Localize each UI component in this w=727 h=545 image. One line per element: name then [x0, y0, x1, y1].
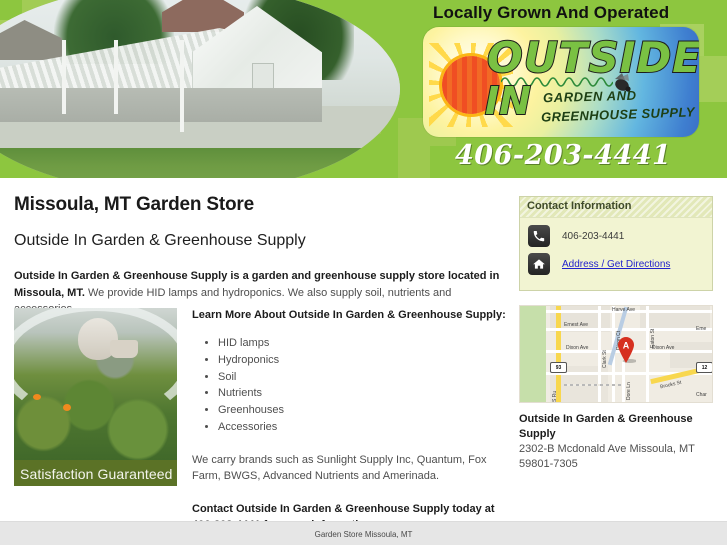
photo-flower — [63, 404, 71, 411]
page-title: Missoula, MT Garden Store — [14, 194, 506, 216]
phone-icon — [528, 225, 550, 247]
map-shield-93: 93 — [550, 362, 567, 373]
location-map[interactable]: 93 12 Harve Ave Ernest Ave Dixon Ave Dix… — [519, 305, 713, 403]
panel-title: Contact Information — [520, 197, 712, 218]
logo-word-in: IN — [485, 79, 531, 123]
page-subtitle: Outside In Garden & Greenhouse Supply — [14, 232, 506, 250]
learn-more-heading: Learn More About Outside In Garden & Gre… — [192, 308, 506, 324]
map-label: S Ru — [552, 391, 558, 402]
photo-caption-text: Satisfaction Guaranteed — [20, 466, 173, 482]
home-icon — [528, 253, 550, 275]
contact-information-panel: Contact Information 406-203-4441 — [519, 196, 713, 291]
site-header: Locally Grown And Operated OUTSIDE IN GA… — [0, 0, 727, 178]
map-label: Ernest Ave — [564, 322, 588, 328]
map-street-dore — [622, 362, 625, 403]
company-logo: OUTSIDE IN GARDEN AND GREENHOUSE SUPPLY — [423, 27, 699, 137]
services-list: HID lamps Hydroponics Soil Nutrients Gre… — [192, 335, 506, 436]
list-item: HID lamps — [218, 335, 506, 352]
map-street-ernest — [546, 328, 713, 331]
main-content-column: Missoula, MT Garden Store Outside In Gar… — [14, 194, 506, 318]
list-item: Hydroponics — [218, 352, 506, 369]
map-label: Harve Ave — [612, 307, 635, 313]
photo-basket — [110, 340, 138, 358]
list-item: Soil — [218, 369, 506, 386]
panel-body: 406-203-4441 Address / Get Directions — [520, 218, 712, 290]
satisfaction-photo-card: Satisfaction Guaranteed — [14, 308, 177, 486]
logo-subtitle-line-2: GREENHOUSE SUPPLY — [541, 104, 695, 124]
header-tagline: Locally Grown And Operated — [433, 3, 669, 23]
map-label: Clark St — [602, 350, 608, 368]
address-line-2: 59801-7305 — [519, 457, 713, 472]
map-highway-93 — [556, 306, 561, 403]
svg-text:A: A — [623, 341, 630, 351]
photo-greenhouse-base — [0, 88, 322, 122]
list-item: Nutrients — [218, 385, 506, 402]
footer-text: Garden Store Missoula, MT — [0, 522, 727, 539]
map-railway — [564, 384, 622, 386]
logo-subtitle-line-1: GARDEN AND — [543, 88, 637, 105]
list-item: Greenhouses — [218, 402, 506, 419]
hero-greenhouse-photo — [0, 0, 400, 178]
contact-row-phone: 406-203-4441 — [528, 225, 704, 247]
list-item: Accessories — [218, 419, 506, 436]
map-label: Dore Ln — [626, 382, 632, 400]
page-root: Locally Grown And Operated OUTSIDE IN GA… — [0, 0, 727, 545]
map-pin-icon[interactable]: A — [616, 336, 636, 364]
business-name: Outside In Garden & Greenhouse Supply — [519, 412, 713, 442]
photo-post — [180, 40, 184, 132]
map-label: Eaton St — [650, 329, 656, 348]
brands-paragraph: We carry brands such as Sunlight Supply … — [192, 452, 506, 485]
map-label: Char — [696, 392, 707, 398]
contact-row-address[interactable]: Address / Get Directions — [528, 253, 704, 275]
feature-text-block: Learn More About Outside In Garden & Gre… — [192, 308, 506, 534]
logo-word-outside: OUTSIDE — [487, 33, 699, 82]
map-label: Dixon Ave — [566, 345, 588, 351]
photo-lawn — [0, 148, 400, 178]
map-label: Eme — [696, 326, 706, 332]
address-line-1: 2302-B Mcdonald Ave Missoula, MT — [519, 442, 713, 457]
map-shield-12: 12 — [696, 362, 713, 373]
contact-phone-value: 406-203-4441 — [562, 231, 624, 242]
map-park-area — [520, 306, 546, 402]
header-phone-number: 406-203-4441 — [455, 140, 671, 171]
photo-post — [114, 40, 118, 114]
photo-post — [62, 40, 66, 114]
sidebar: Contact Information 406-203-4441 — [519, 196, 713, 472]
get-directions-link[interactable]: Address / Get Directions — [562, 259, 670, 270]
map-street-clark — [598, 306, 601, 403]
map-street-eaton — [646, 306, 649, 403]
photo-flower — [33, 394, 41, 400]
site-footer: Garden Store Missoula, MT — [0, 521, 727, 545]
